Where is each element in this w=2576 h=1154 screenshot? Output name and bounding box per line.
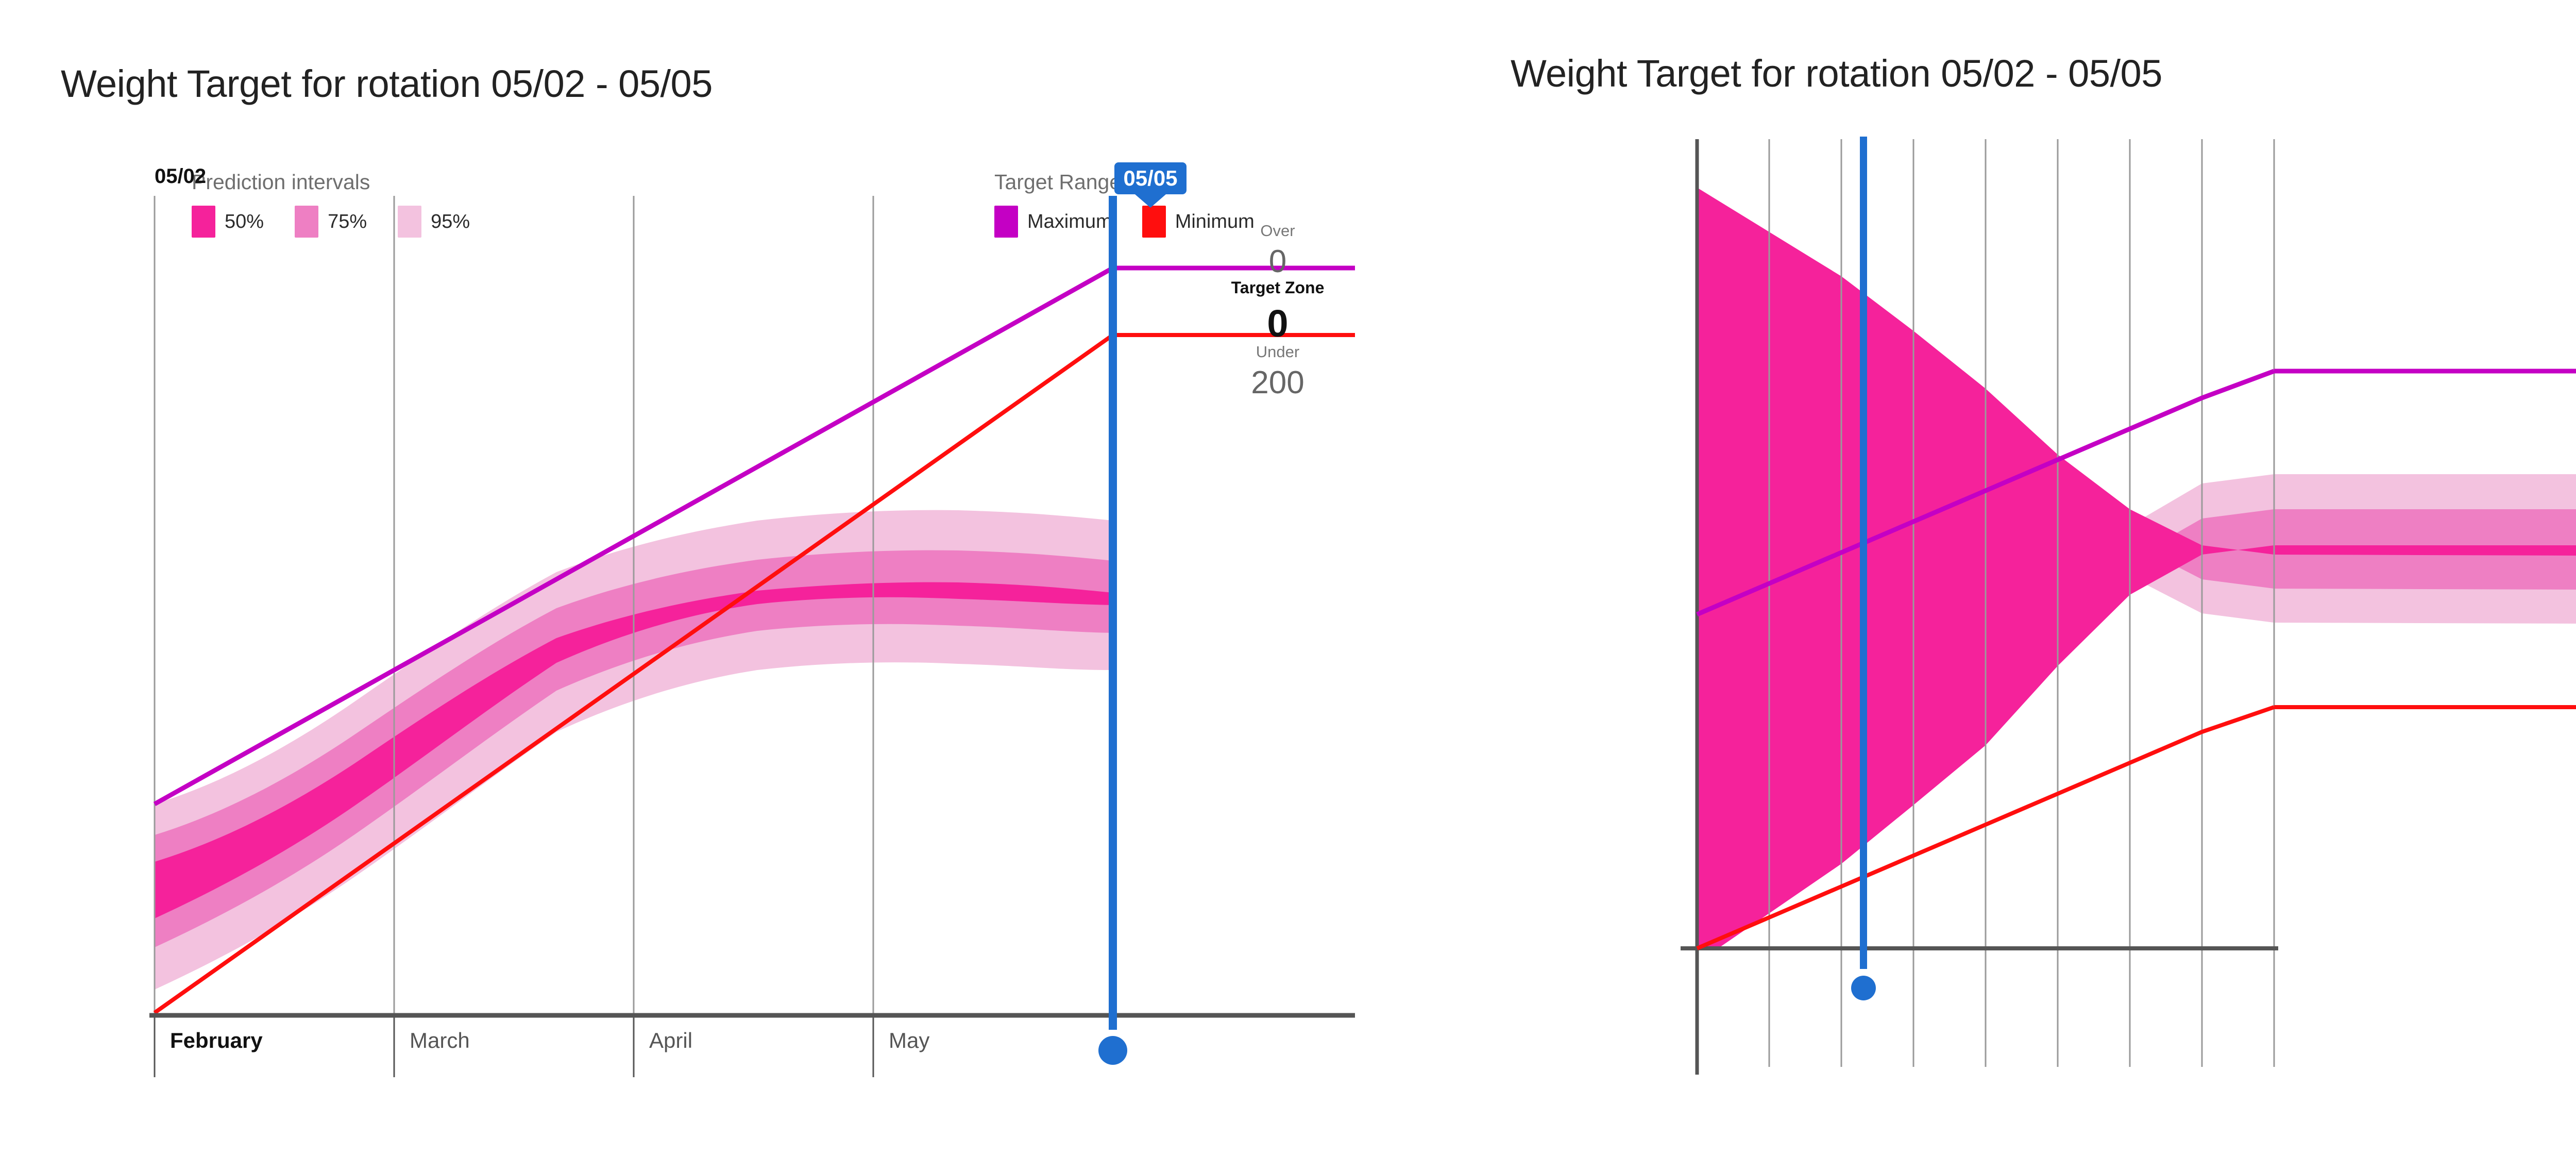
- left-marker-handle[interactable]: [1098, 1036, 1127, 1065]
- left-chart-canvas: [0, 0, 1423, 1154]
- left-month-label-may: May: [889, 1028, 929, 1053]
- readout-under: Under 200: [1211, 343, 1345, 401]
- readout-over: Over 0: [1211, 222, 1345, 280]
- right-axis-tick-extensions: [1769, 948, 2274, 1067]
- readout-over-value: 0: [1211, 243, 1345, 280]
- left-forecast-panel: Weight Target for rotation 05/02 - 05/05…: [0, 0, 1423, 1154]
- left-month-label-february: February: [170, 1028, 263, 1053]
- right-paddock-panel: Weight Target for rotation 05/02 - 05/05…: [1423, 0, 2576, 1154]
- readout-under-label: Under: [1211, 343, 1345, 361]
- readout-over-label: Over: [1211, 222, 1345, 240]
- left-month-label-april: April: [649, 1028, 692, 1053]
- readout-target-zone-label: Target Zone: [1211, 278, 1345, 297]
- left-month-label-march: March: [410, 1028, 470, 1053]
- right-marker-handle[interactable]: [1851, 976, 1876, 1000]
- dashboard-root: Weight Target for rotation 05/02 - 05/05…: [0, 0, 2576, 1154]
- readout-under-value: 200: [1211, 364, 1345, 401]
- readout-target-zone: Target Zone 0: [1211, 278, 1345, 345]
- right-chart-canvas: [1423, 0, 2576, 1154]
- readout-target-zone-value: 0: [1211, 302, 1345, 345]
